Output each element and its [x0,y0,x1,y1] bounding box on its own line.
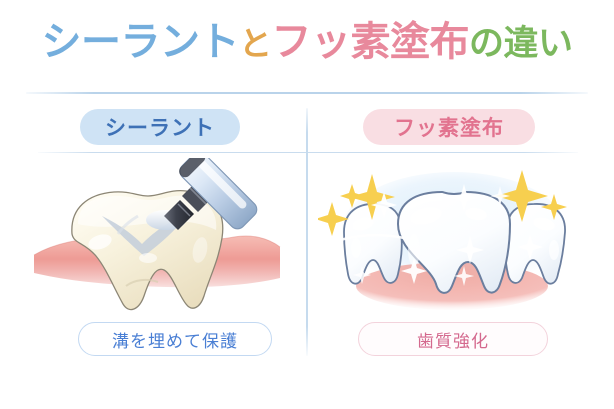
caption-sealant: 溝を埋めて保護 [78,322,272,356]
column-header-sealant-label: シーラント [105,112,215,142]
caption-sealant-label: 溝を埋めて保護 [112,327,238,352]
title-segment-sealant: シーラント [41,22,239,62]
column-header-fluoride: フッ素塗布 [363,109,535,145]
divider-mid-horizontal [38,152,578,153]
sparkling-teeth-icon [318,158,590,316]
column-header-sealant: シーラント [80,109,240,145]
page-title: シーラントとフッ素塗布の違い [0,22,614,62]
divider-vertical [306,108,308,356]
title-segment-difference: の違い [469,27,573,62]
caption-fluoride: 歯質強化 [358,322,548,356]
title-segment-conjunction: と [239,27,272,60]
tooth-sealant-icon [30,158,302,316]
caption-fluoride-label: 歯質強化 [417,327,489,352]
illustration-fluoride [318,158,590,316]
column-header-fluoride-label: フッ素塗布 [394,112,504,142]
infographic-root: シーラントとフッ素塗布の違い シーラント フッ素塗布 [0,0,614,409]
title-segment-fluoride: フッ素塗布 [271,22,469,62]
illustration-sealant [30,158,302,316]
divider-top-horizontal [26,92,588,94]
